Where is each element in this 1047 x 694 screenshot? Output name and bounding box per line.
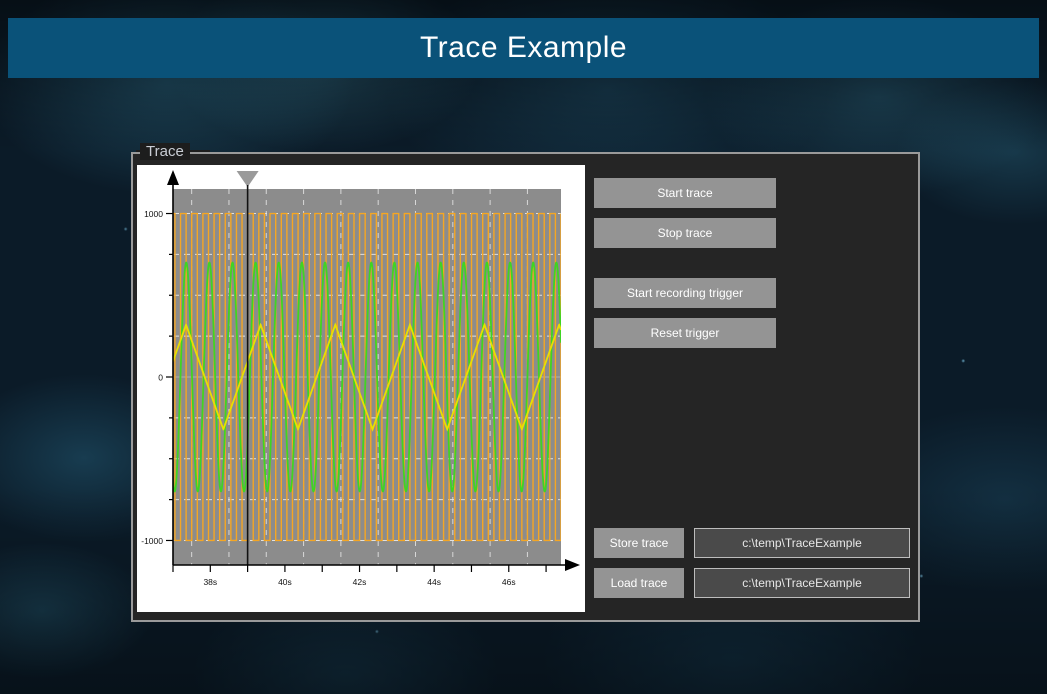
load-trace-path-input[interactable]: c:\temp\TraceExample [694,568,910,598]
stop-trace-button[interactable]: Stop trace [594,218,776,248]
svg-text:42s: 42s [353,577,367,587]
y-axis-tick-labels: 10000-1000 [141,209,163,546]
load-trace-button[interactable]: Load trace [594,568,684,598]
trace-chart[interactable]: 10000-1000 38s40s42s44s46s [137,165,585,612]
svg-text:46s: 46s [502,577,516,587]
group-box-label: Trace [140,143,190,160]
svg-text:1000: 1000 [144,209,163,219]
svg-text:-1000: -1000 [141,536,163,546]
page-title: Trace Example [420,31,627,65]
trace-chart-canvas[interactable]: 10000-1000 38s40s42s44s46s [137,165,585,612]
svg-text:38s: 38s [203,577,217,587]
app-header-bar: Trace Example [8,18,1039,78]
reset-trigger-button[interactable]: Reset trigger [594,318,776,348]
svg-text:0: 0 [158,373,163,383]
trace-panel: 10000-1000 38s40s42s44s46s Start trace S… [131,152,920,622]
store-trace-path-input[interactable]: c:\temp\TraceExample [694,528,910,558]
svg-text:44s: 44s [427,577,441,587]
svg-text:40s: 40s [278,577,292,587]
store-trace-button[interactable]: Store trace [594,528,684,558]
start-trace-button[interactable]: Start trace [594,178,776,208]
x-axis-tick-labels: 38s40s42s44s46s [203,577,515,587]
start-recording-trigger-button[interactable]: Start recording trigger [594,278,776,308]
